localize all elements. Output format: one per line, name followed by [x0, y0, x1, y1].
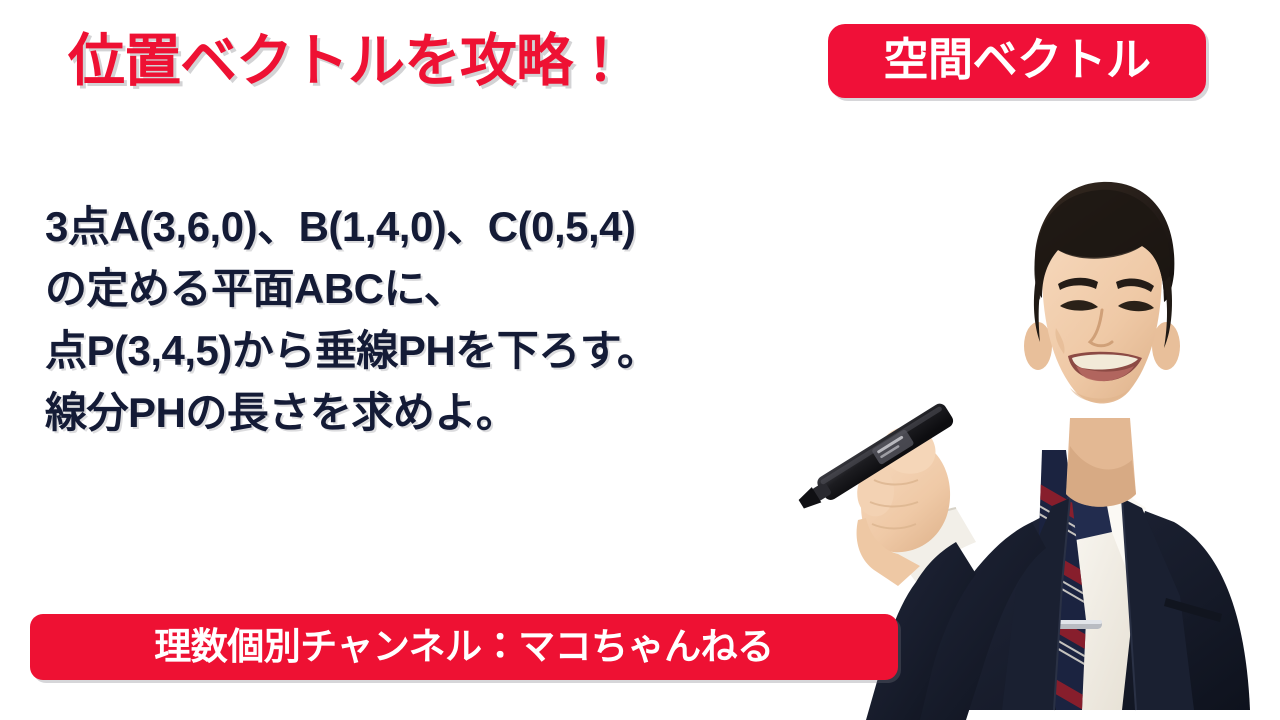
video-thumbnail: 位置ベクトルを攻略！ 空間ベクトル 3点A(3,6,0)、B(1,4,0)、C(… — [0, 0, 1280, 720]
presenter-head — [1024, 182, 1180, 404]
tie-bar — [1038, 620, 1102, 629]
dress-shirt — [1058, 498, 1136, 710]
channel-banner-label: 理数個別チャンネル：マコちゃんねる — [154, 628, 773, 667]
tie-stripes — [1020, 480, 1112, 718]
page-title: 位置ベクトルを攻略！ — [68, 28, 628, 95]
problem-line: 点P(3,4,5)から垂線PHを下ろす。 — [45, 320, 845, 382]
problem-line: の定める平面ABCに、 — [45, 258, 845, 320]
channel-banner: 理数個別チャンネル：マコちゃんねる — [30, 614, 898, 680]
necktie — [1020, 450, 1112, 718]
problem-statement: 3点A(3,6,0)、B(1,4,0)、C(0,5,4) の定める平面ABCに、… — [45, 196, 845, 444]
shirt-cuff — [890, 508, 976, 582]
suit-torso — [966, 494, 1250, 710]
suit-lapels — [1002, 498, 1222, 710]
problem-line: 線分PHの長さを求めよ。 — [45, 382, 845, 444]
problem-line: 3点A(3,6,0)、B(1,4,0)、C(0,5,4) — [45, 196, 845, 258]
topic-badge: 空間ベクトル — [828, 24, 1206, 98]
hand-holding-marker — [857, 427, 951, 587]
topic-badge-label: 空間ベクトル — [883, 37, 1150, 85]
neck — [1066, 418, 1136, 507]
